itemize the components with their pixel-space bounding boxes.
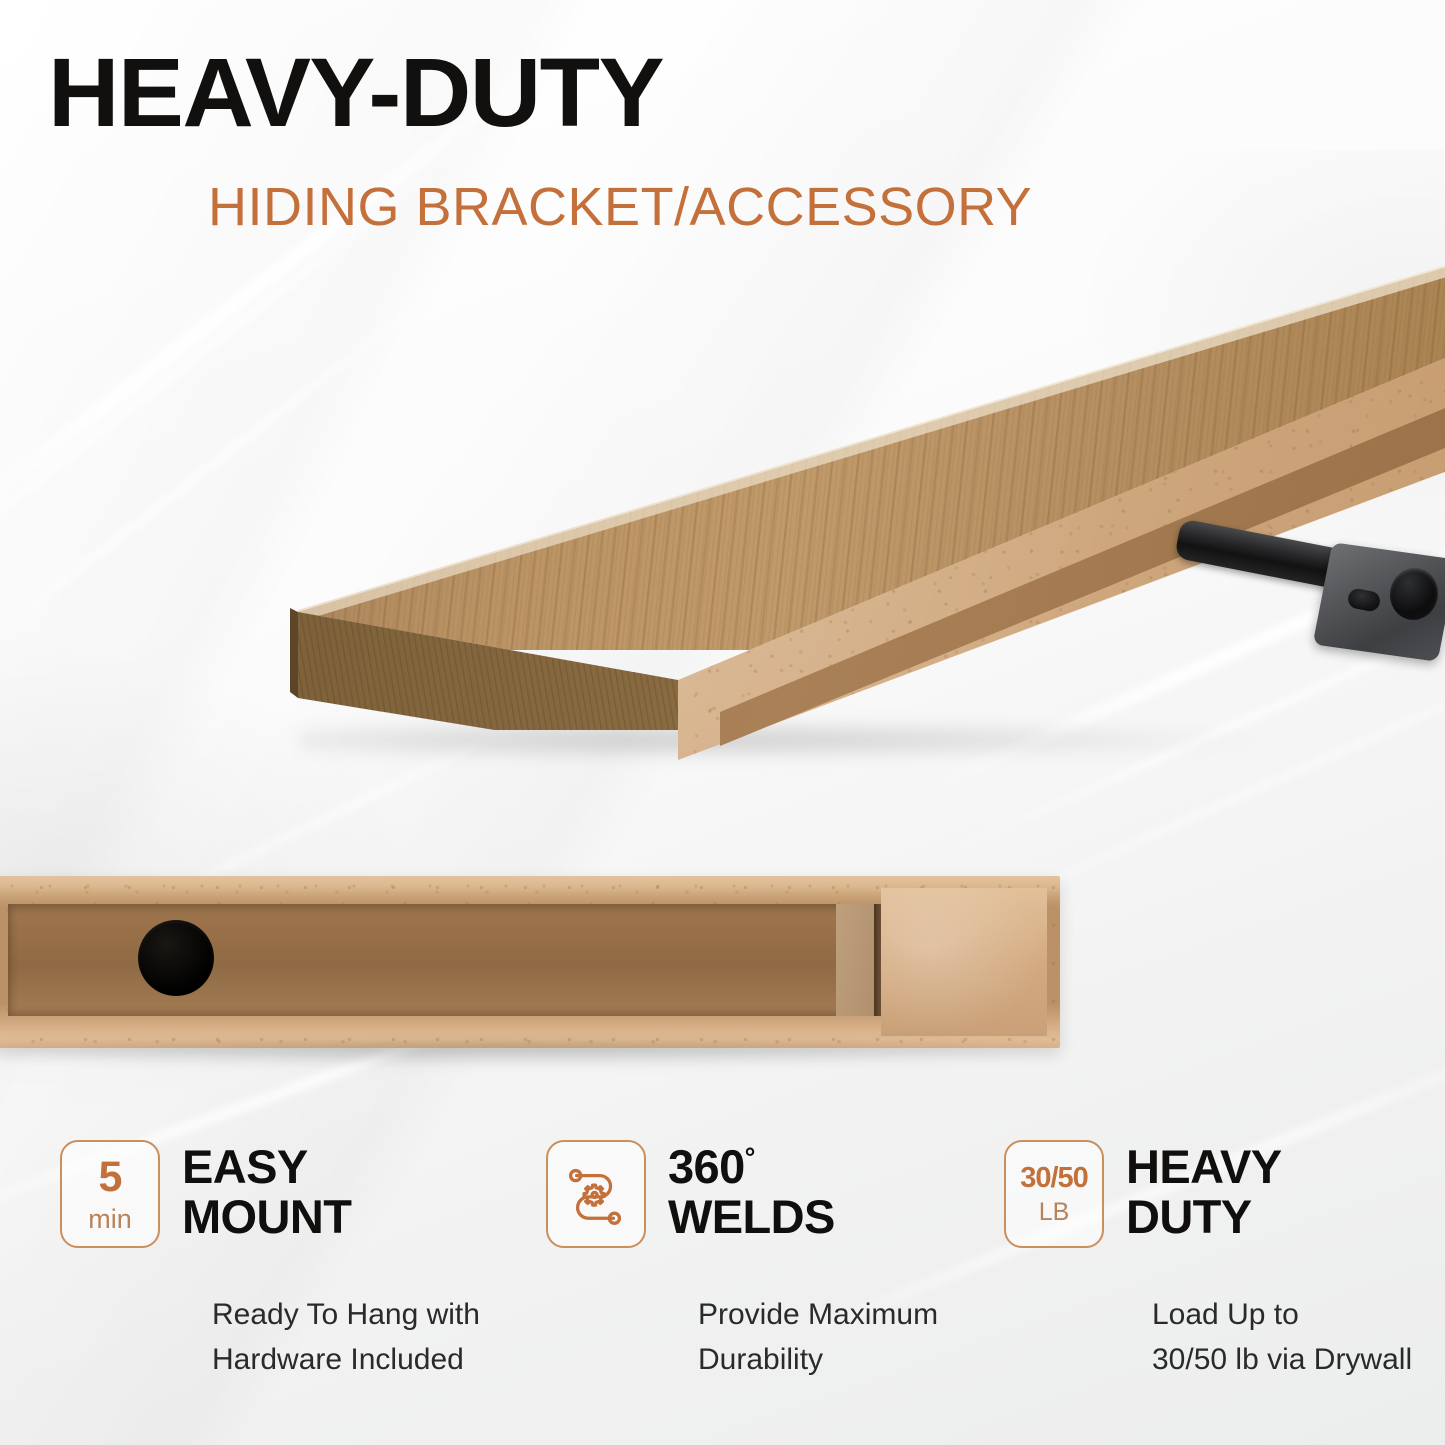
feature-easy-mount: 5 min EASY MOUNT Ready To Hang with Hard…	[60, 1140, 530, 1248]
feature-heading: HEAVY DUTY	[1126, 1140, 1281, 1242]
shelf-drop-shadow	[300, 720, 1280, 760]
feature-360-welds: 360°WELDS Provide Maximum Durability	[546, 1140, 996, 1248]
badge-value: 30/50	[1020, 1164, 1088, 1193]
page-title: HEAVY-DUTY	[48, 44, 663, 141]
weld-path-gear-glyph	[565, 1163, 627, 1225]
badge-unit: LB	[1039, 1200, 1070, 1225]
cross-section-end-shadow	[874, 904, 881, 1016]
cross-section-mounting-hole	[138, 920, 214, 996]
feature-heading: 360°WELDS	[668, 1140, 835, 1242]
feature-strip: 5 min EASY MOUNT Ready To Hang with Hard…	[0, 1140, 1445, 1440]
feature-heading-line2: WELDS	[668, 1190, 835, 1243]
badge-unit: min	[88, 1206, 132, 1233]
feature-description: Load Up to 30/50 lb via Drywall	[1152, 1292, 1412, 1382]
feature-description: Provide Maximum Durability	[698, 1292, 938, 1382]
hero-product-image	[0, 250, 1445, 810]
feature-heavy-duty: 30/50 LB HEAVY DUTY Load Up to 30/50 lb …	[1004, 1140, 1445, 1248]
cross-section-drop-shadow	[0, 1042, 1090, 1068]
feature-heading-value: 360	[668, 1140, 745, 1193]
feature-description: Ready To Hang with Hardware Included	[212, 1292, 480, 1382]
page-subtitle: HIDING BRACKET/ACCESSORY	[208, 180, 1032, 234]
weld-path-gear-icon	[546, 1140, 646, 1248]
timer-badge-icon: 5 min	[60, 1140, 160, 1248]
weight-capacity-badge-icon: 30/50 LB	[1004, 1140, 1104, 1248]
cross-section-end-wall	[836, 904, 876, 1016]
product-infographic-canvas: HEAVY-DUTY HIDING BRACKET/ACCESSORY 5	[0, 0, 1445, 1445]
feature-heading: EASY MOUNT	[182, 1140, 351, 1242]
cross-section-solid-block	[881, 888, 1047, 1036]
badge-value: 5	[99, 1156, 122, 1199]
degree-symbol: °	[745, 1142, 755, 1172]
